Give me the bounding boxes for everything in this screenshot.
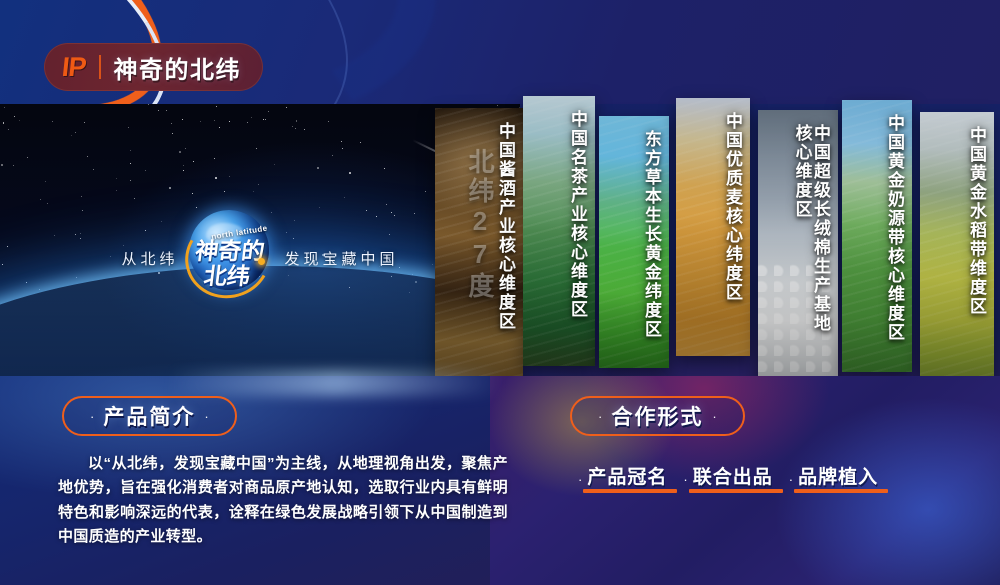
cooperation-item-label: 产品冠名 — [587, 462, 667, 493]
hero-prefix-text: 从北纬 — [121, 248, 178, 269]
cooperation-item[interactable]: ·联合出品 — [683, 462, 772, 493]
bullet-dot-icon: · — [789, 468, 793, 493]
card-liquor[interactable]: 北纬27度中国酱酒产业核心维度区 — [435, 108, 523, 386]
bullet-dot-left-icon: · — [598, 410, 602, 423]
card-vertical-title: 中国优质麦核心纬度区 — [724, 112, 741, 346]
cooperation-item-label: 联合出品 — [693, 462, 773, 493]
card-title-column: 中国黄金水稻带维度区 — [968, 126, 985, 316]
hero-suffix-text: 发现宝藏中国 — [285, 248, 399, 269]
card-title-column: 中国超级长绒棉生产基地 — [812, 124, 829, 333]
logo-line-2: 北纬 — [191, 265, 263, 288]
card-rice[interactable]: 中国黄金水稻带维度区 — [920, 112, 994, 378]
card-tea[interactable]: 中国名茶产业核心维度区 — [523, 96, 595, 366]
card-vertical-title: 中国黄金水稻带维度区 — [968, 126, 985, 368]
card-vertical-title: 东方草本生长黄金纬度区 — [643, 130, 660, 358]
card-cotton[interactable]: 中国超级长绒棉生产基地核心维度区 — [758, 110, 838, 388]
ip-badge[interactable]: IP 神奇的北纬 — [44, 43, 263, 91]
cooperation-item[interactable]: ·产品冠名 — [578, 462, 667, 493]
cooperation-items-list: ·产品冠名·联合出品·品牌植入 — [578, 462, 978, 493]
card-herb[interactable]: 东方草本生长黄金纬度区 — [599, 116, 669, 368]
card-title-column: 中国黄金奶源带核心维度区 — [886, 114, 903, 342]
bullet-dot-icon: · — [683, 468, 687, 493]
poster-stage: IP 神奇的北纬 从北纬 north latitude 神奇的 北纬 发现宝藏中… — [0, 0, 1000, 585]
bullet-dot-right-icon: · — [204, 410, 208, 423]
bullet-dot-right-icon: · — [712, 410, 716, 423]
card-vertical-title: 中国黄金奶源带核心维度区 — [886, 114, 903, 362]
card-title-column: 中国优质麦核心纬度区 — [724, 112, 741, 302]
section-heading-intro: · 产品简介 · — [62, 396, 237, 436]
logo-accent-dot-icon — [258, 258, 265, 265]
ip-badge-divider — [99, 55, 101, 79]
card-title-column: 东方草本生长黄金纬度区 — [643, 130, 660, 339]
light-streak-decoration — [170, 370, 500, 396]
card-dairy[interactable]: 中国黄金奶源带核心维度区 — [842, 100, 912, 372]
cooperation-item[interactable]: ·品牌植入 — [789, 462, 878, 493]
section-heading-cooperation: · 合作形式 · — [570, 396, 745, 436]
ip-brand-title: 神奇的北纬 — [114, 50, 242, 85]
bullet-dot-icon: · — [578, 468, 582, 493]
card-title-column: 核心维度区 — [793, 124, 810, 219]
cooperation-item-label: 品牌植入 — [798, 462, 878, 493]
card-watermark-text: 北纬27度 — [462, 148, 499, 301]
card-vertical-title: 中国超级长绒棉生产基地核心维度区 — [793, 124, 829, 378]
bullet-dot-left-icon: · — [90, 410, 94, 423]
brand-logo: north latitude 神奇的 北纬 — [185, 212, 277, 304]
cooperation-heading-label: 合作形式 — [611, 401, 703, 431]
logo-chinese-text: 神奇的 北纬 — [191, 240, 266, 287]
region-card-strip: 北纬27度中国酱酒产业核心维度区中国名茶产业核心维度区东方草本生长黄金纬度区中国… — [430, 88, 1000, 388]
card-wheat[interactable]: 中国优质麦核心纬度区 — [676, 98, 750, 356]
card-title-column: 中国酱酒产业核心维度区 — [497, 122, 514, 331]
ip-mark-label: IP — [60, 52, 87, 83]
intro-heading-label: 产品简介 — [103, 401, 195, 431]
intro-body-text: 以“从北纬，发现宝藏中国”为主线，从地理视角出发，聚焦产地优势，旨在强化消费者对… — [58, 452, 508, 549]
card-vertical-title: 中国名茶产业核心维度区 — [569, 110, 586, 356]
logo-line-1: 神奇的 — [194, 240, 266, 263]
card-vertical-title: 中国酱酒产业核心维度区 — [497, 122, 514, 376]
card-title-column: 中国名茶产业核心维度区 — [569, 110, 586, 319]
